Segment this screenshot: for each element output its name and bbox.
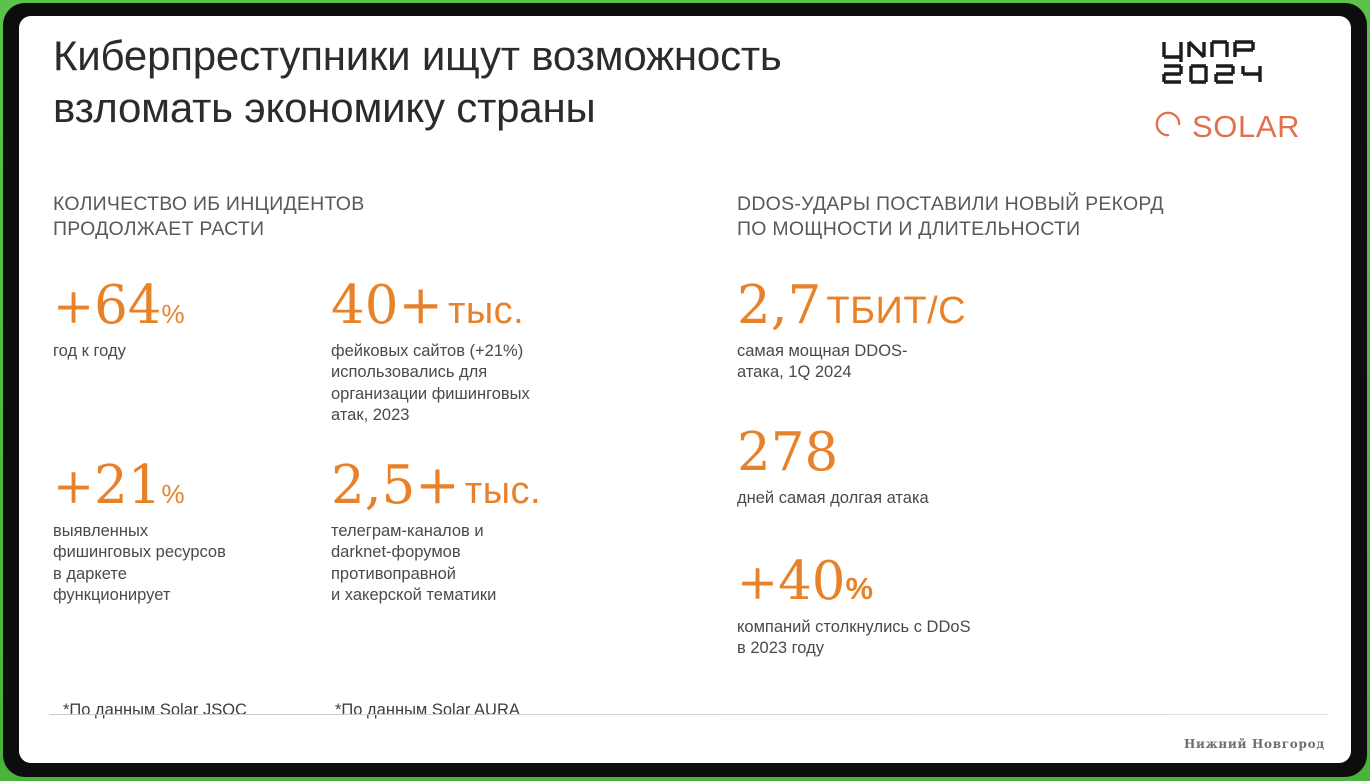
stat-suffix: тыс. (448, 290, 524, 332)
logo-stack: SOLAR (1149, 38, 1349, 142)
stat-sign: + (737, 554, 778, 611)
footnote-aura: *По данным Solar AURA (335, 701, 520, 720)
stat-value: +40% (737, 555, 1307, 608)
stat-number: 64 (94, 275, 161, 336)
stat-value: 2,7 ТБИТ/С (737, 279, 1307, 332)
stat-value: +21% (53, 459, 313, 512)
device-frame: Киберпреступники ищут возможность взлома… (3, 3, 1367, 777)
stat-description: выявленных фишинговых ресурсов в даркете… (53, 521, 313, 607)
presentation-slide: Киберпреступники ищут возможность взлома… (19, 16, 1351, 763)
page-title: Киберпреступники ищут возможность взлома… (53, 30, 983, 133)
left-section-heading: КОЛИЧЕСТВО ИБ ИНЦИДЕНТОВ ПРОДОЛЖАЕТ РАСТ… (53, 192, 713, 243)
right-column: DDOS-УДАРЫ ПОСТАВИЛИ НОВЫЙ РЕКОРД ПО МОЩ… (737, 192, 1307, 694)
stat-number: 2,5+ (331, 455, 460, 516)
stat-number: 21 (94, 455, 161, 516)
stat-value: 2,5+ тыс. (331, 459, 641, 512)
stat-number: 2,7 (737, 275, 821, 336)
stat-number: 278 (737, 422, 838, 483)
stat-sign: + (53, 278, 94, 335)
stat-card: 2,7 ТБИТ/С самая мощная DDOS- атака, 1Q … (737, 279, 1307, 384)
stat-card: +21% выявленных фишинговых ресурсов в да… (53, 459, 313, 607)
stat-description: компаний столкнулись с DDoS в 2023 году (737, 617, 1307, 660)
solar-ring-icon (1155, 111, 1181, 142)
stat-description: телеграм-каналов и darknet-форумов проти… (331, 521, 641, 607)
stat-number: 40+ (331, 275, 443, 336)
stat-suffix: ТБИТ/С (826, 290, 966, 332)
stat-card: 2,5+ тыс. телеграм-каналов и darknet-фор… (331, 459, 641, 607)
solar-wordmark: SOLAR (1192, 111, 1300, 142)
stat-suffix: тыс. (465, 470, 541, 512)
stat-description: самая мощная DDOS- атака, 1Q 2024 (737, 341, 1307, 384)
footnote-jsoc: *По данным Solar JSOC (63, 701, 247, 720)
stat-card: +64% год к году (53, 279, 313, 362)
solar-logo: SOLAR (1155, 111, 1349, 142)
stat-card: +40% компаний столкнулись с DDoS в 2023 … (737, 555, 1307, 660)
slide-header: Киберпреступники ищут возможность взлома… (53, 30, 1325, 170)
footer-divider (49, 714, 1329, 715)
left-column: КОЛИЧЕСТВО ИБ ИНЦИДЕНТОВ ПРОДОЛЖАЕТ РАСТ… (53, 192, 713, 699)
stat-value: 278 (737, 426, 1307, 479)
stat-value: 40+ тыс. (331, 279, 631, 332)
stat-description: год к году (53, 341, 313, 362)
city-label: Нижний Новгород (1184, 737, 1325, 751)
right-section-heading: DDOS-УДАРЫ ПОСТАВИЛИ НОВЫЙ РЕКОРД ПО МОЩ… (737, 192, 1307, 243)
left-stat-grid: +64% год к году 40+ тыс. фейковых сайтов… (53, 279, 713, 699)
stat-value: +64% (53, 279, 313, 332)
stat-card: 278 дней самая долгая атака (737, 426, 1307, 509)
stat-number: 40 (778, 551, 845, 612)
stat-suffix: % (162, 479, 185, 509)
stat-suffix: % (162, 299, 185, 329)
stat-card: 40+ тыс. фейковых сайтов (+21%) использо… (331, 279, 631, 427)
stat-description: дней самая долгая атака (737, 488, 1307, 509)
slide-screen-bezel: Киберпреступники ищут возможность взлома… (0, 0, 1370, 781)
stat-sign: + (53, 458, 94, 515)
stat-description: фейковых сайтов (+21%) использовались дл… (331, 341, 631, 427)
cipr-2024-logo-icon (1161, 38, 1349, 91)
stat-suffix: % (846, 571, 874, 606)
